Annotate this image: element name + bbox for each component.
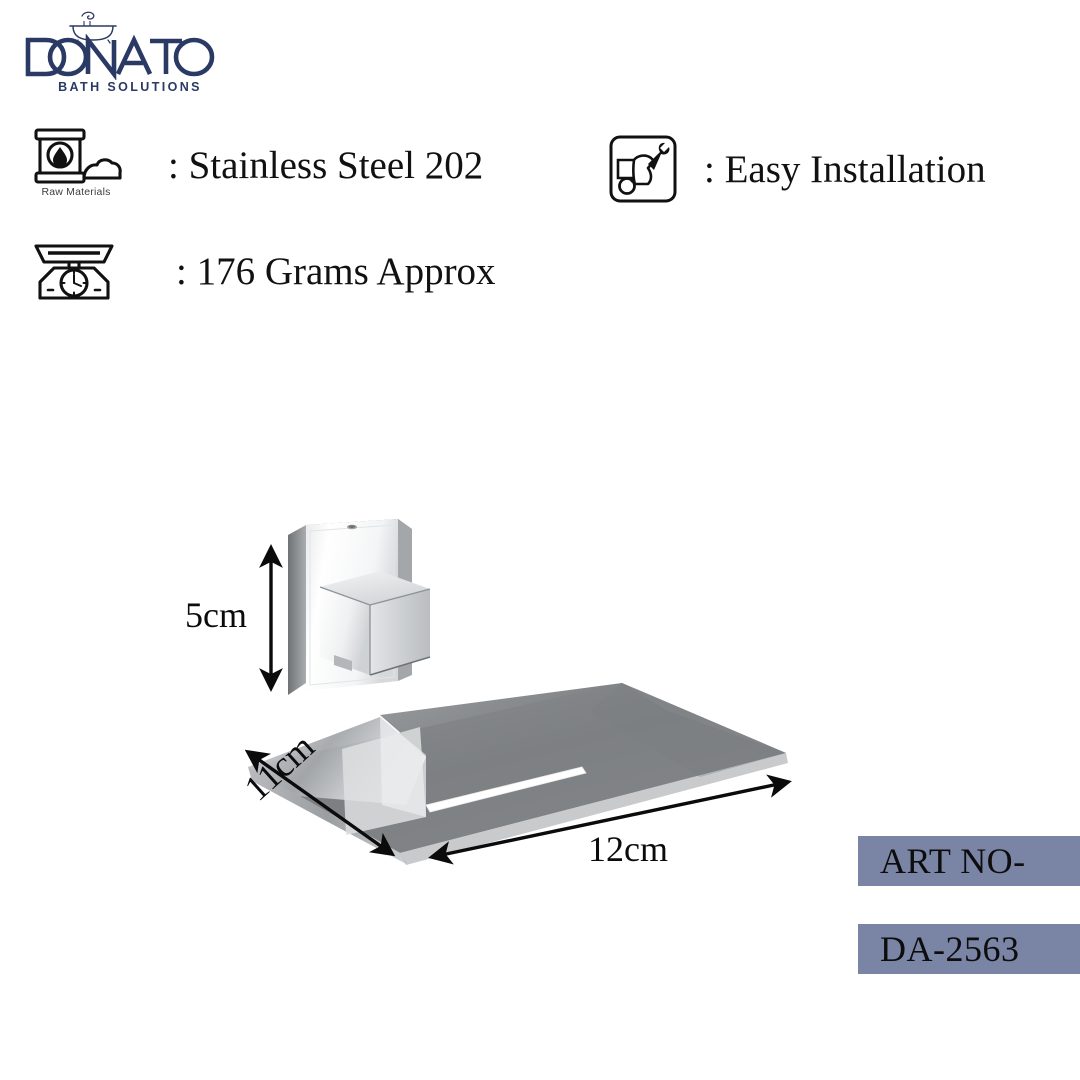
spec-row-material: Raw Materials : Stainless Steel 202: [28, 126, 483, 204]
hand-wrench-icon: [608, 134, 678, 204]
spec-text-weight: : 176 Grams Approx: [176, 252, 496, 291]
spec-row-weight: : 176 Grams Approx: [24, 238, 496, 304]
dimension-label-width: 12cm: [588, 828, 668, 870]
spec-icon-caption: Raw Materials: [41, 186, 110, 198]
product-image: [230, 505, 810, 885]
brand-wordmark: [22, 34, 222, 80]
raw-materials-barrel-icon: [28, 126, 124, 188]
brand-logo: BATH SOLUTIONS: [22, 8, 252, 100]
art-no-label: ART NO-: [880, 840, 1026, 882]
art-no-label-badge: ART NO-: [858, 836, 1080, 886]
soap-dish-illustration: [230, 505, 810, 885]
art-no-value-badge: DA-2563: [858, 924, 1080, 974]
spec-text-material: : Stainless Steel 202: [168, 146, 483, 185]
art-no-value: DA-2563: [880, 928, 1019, 970]
weighing-scale-icon: [24, 238, 124, 304]
product-spec-sheet: BATH SOLUTIONS Raw Materials : Stainless…: [0, 0, 1080, 1080]
dimension-label-height: 5cm: [185, 594, 247, 636]
brand-tagline: BATH SOLUTIONS: [50, 80, 210, 94]
spec-row-installation: : Easy Installation: [608, 134, 986, 204]
spec-text-installation: : Easy Installation: [704, 150, 986, 189]
